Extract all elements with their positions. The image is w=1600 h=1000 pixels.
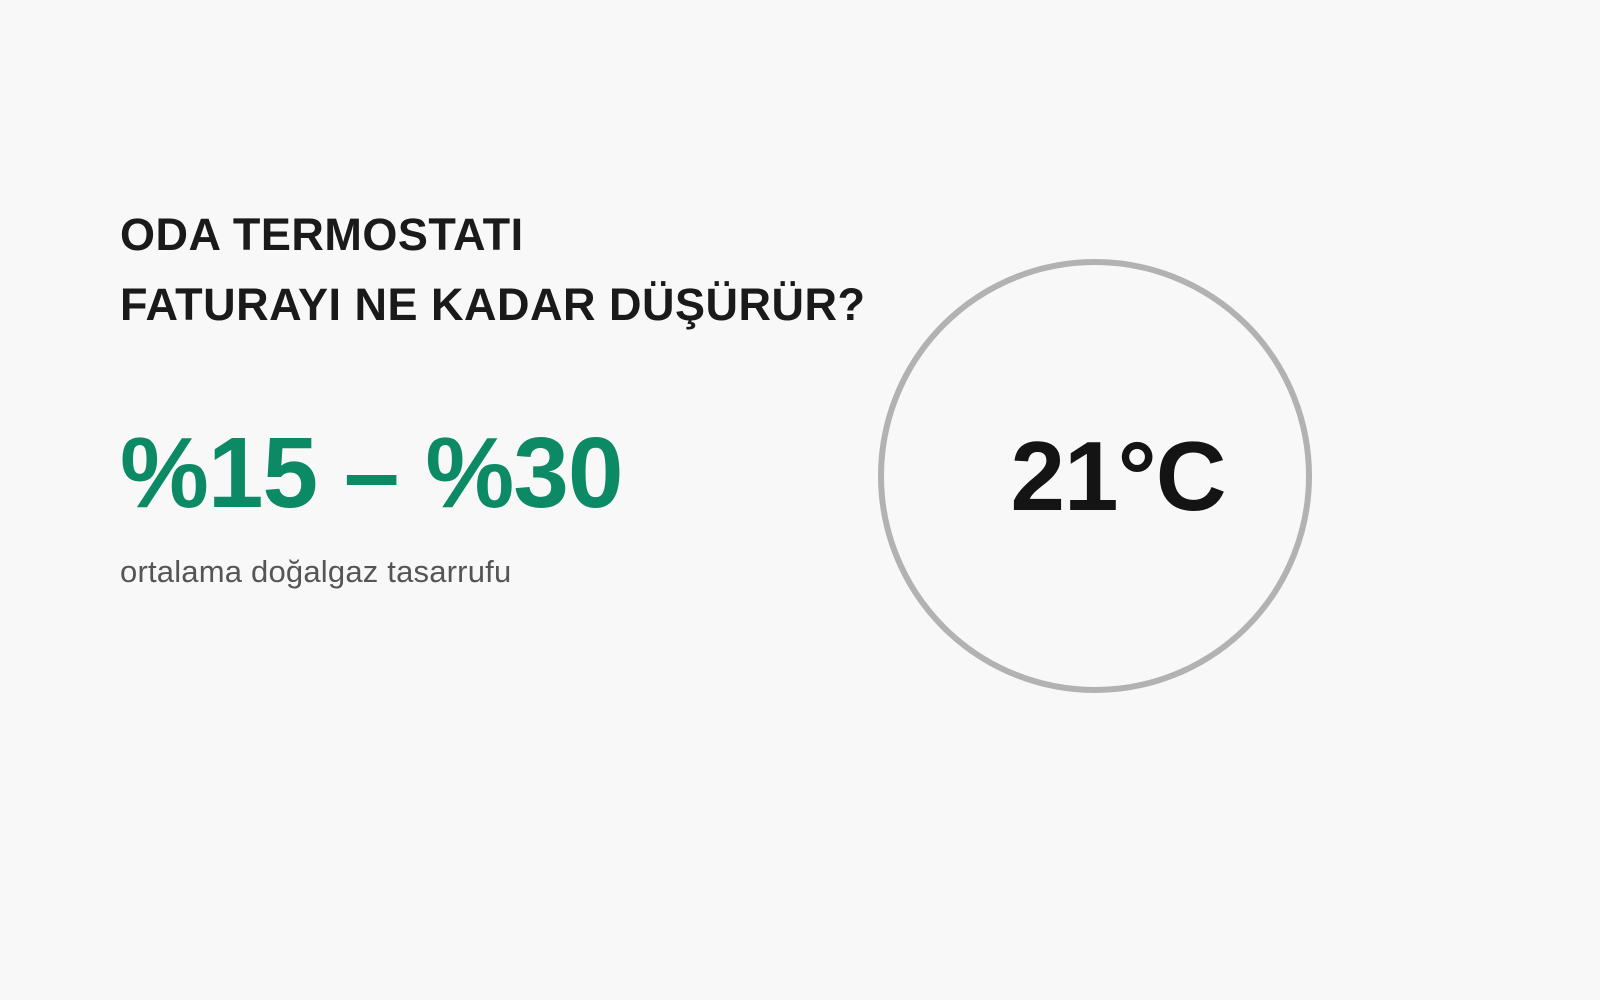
- thermostat-dial: 21°C: [878, 259, 1312, 693]
- infographic-canvas: ODA TERMOSTATI FATURAYI NE KADAR DÜŞÜRÜR…: [0, 0, 1600, 1000]
- dial-temperature-value: 21°C: [878, 259, 1312, 693]
- savings-range-value: %15 – %30: [120, 418, 622, 528]
- savings-caption: ortalama doğalgaz tasarrufu: [120, 552, 511, 592]
